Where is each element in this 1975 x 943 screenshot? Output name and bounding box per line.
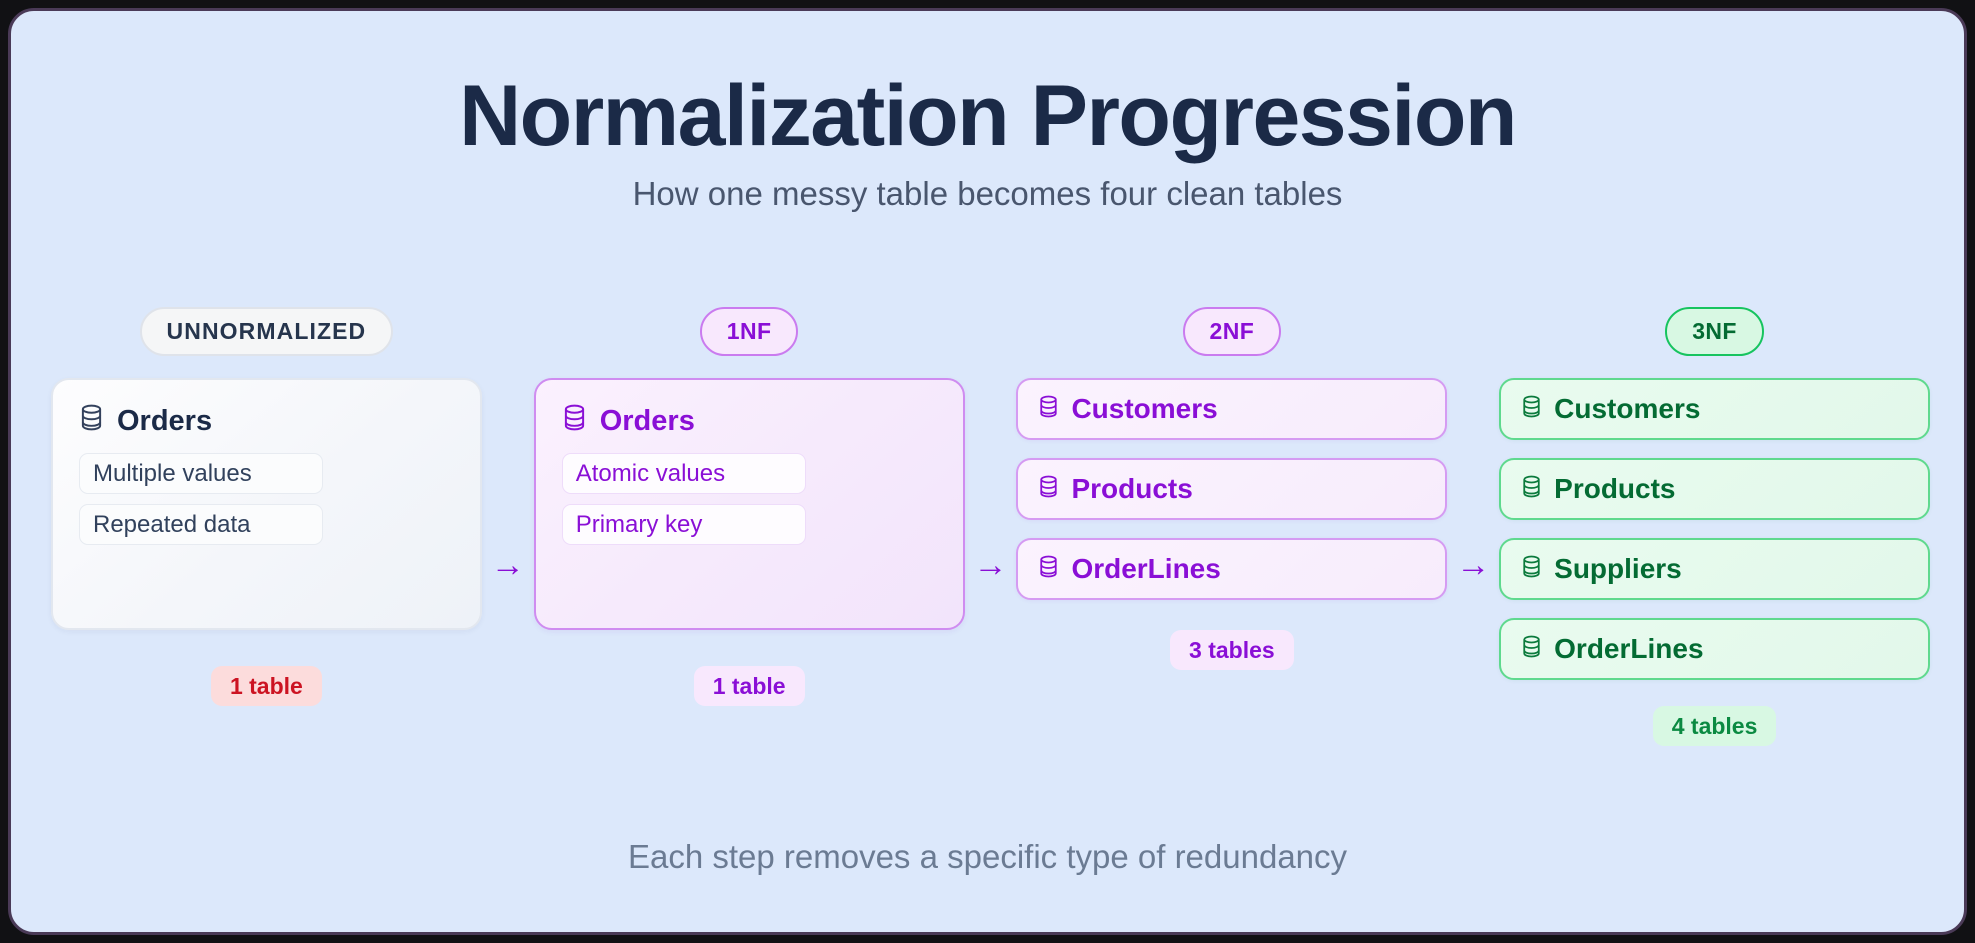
stage-3nf: 3NF Customers [1499,307,1930,746]
database-icon [1038,553,1059,585]
table-card-header: Orders [79,404,454,439]
table-name: OrderLines [1554,633,1703,665]
table-card-header: Products [1521,473,1675,505]
status-badge-table-count: 4 tables [1653,706,1777,746]
table-name: Orders [117,405,212,438]
table-card-header: OrderLines [1521,633,1703,665]
stage-1nf: 1NF Orders [534,307,965,706]
card-stack-1nf: Orders Atomic values Primary key [534,378,965,630]
table-card-products[interactable]: Products [1499,458,1930,520]
arrow-cell-1: → [965,307,1017,837]
arrow-cell-0: → [482,307,534,837]
table-card-header: Customers [1521,393,1700,425]
table-name: Products [1554,473,1675,505]
table-name: Products [1071,473,1192,505]
field-chip[interactable]: Atomic values [562,453,806,494]
status-badge-table-count: 1 table [694,666,805,706]
table-name: Customers [1554,393,1700,425]
card-stack-3nf: Customers Products [1499,378,1930,680]
database-icon [1521,633,1542,665]
table-card-header: Orders [562,404,937,439]
page-title: Normalization Progression [11,71,1964,161]
arrow-right-icon: → [973,548,1007,582]
table-card-header: Products [1038,473,1192,505]
arrow-right-icon: → [491,548,525,582]
database-icon [1521,553,1542,585]
table-card-header: Suppliers [1521,553,1682,585]
field-chip[interactable]: Multiple values [79,453,323,494]
database-icon [1038,393,1059,425]
arrow-right-icon: → [1456,548,1490,582]
table-card-orders[interactable]: Orders Multiple values Repeated data [51,378,482,630]
stage-badge-3nf[interactable]: 3NF [1665,307,1764,356]
count-badge-wrap: 1 table [694,666,805,706]
field-list: Atomic values Primary key [562,453,806,545]
table-card-products[interactable]: Products [1016,458,1447,520]
database-icon [79,404,104,439]
footer-note: Each step removes a specific type of red… [11,838,1964,876]
stage-2nf: 2NF Customers [1016,307,1447,670]
table-name: OrderLines [1071,553,1220,585]
page-subtitle: How one messy table becomes four clean t… [11,175,1964,213]
field-chip[interactable]: Primary key [562,504,806,545]
database-icon [1038,473,1059,505]
stage-badge-1nf[interactable]: 1NF [700,307,799,356]
table-card-header: OrderLines [1038,553,1220,585]
count-badge-wrap: 3 tables [1170,630,1294,670]
status-badge-table-count: 3 tables [1170,630,1294,670]
count-badge-wrap: 4 tables [1653,706,1777,746]
stage-badge-unnormalized[interactable]: UNNORMALIZED [140,307,394,356]
card-stack-2nf: Customers Products [1016,378,1447,600]
card-stack-unnormalized: Orders Multiple values Repeated data [51,378,482,630]
field-chip[interactable]: Repeated data [79,504,323,545]
table-card-orderlines[interactable]: OrderLines [1499,618,1930,680]
header: Normalization Progression How one messy … [11,71,1964,213]
field-list: Multiple values Repeated data [79,453,323,545]
arrow-cell-2: → [1447,307,1499,837]
database-icon [1521,393,1542,425]
table-card-customers[interactable]: Customers [1016,378,1447,440]
table-card-orderlines[interactable]: OrderLines [1016,538,1447,600]
diagram-frame: Normalization Progression How one messy … [8,8,1967,935]
stage-badge-2nf[interactable]: 2NF [1183,307,1282,356]
count-badge-wrap: 1 table [211,666,322,706]
table-card-header: Customers [1038,393,1217,425]
table-name: Suppliers [1554,553,1682,585]
database-icon [562,404,587,439]
table-name: Orders [600,405,695,438]
table-card-customers[interactable]: Customers [1499,378,1930,440]
table-name: Customers [1071,393,1217,425]
stage-row: UNNORMALIZED Orders [51,307,1930,837]
table-card-suppliers[interactable]: Suppliers [1499,538,1930,600]
stage-unnormalized: UNNORMALIZED Orders [51,307,482,706]
table-card-orders[interactable]: Orders Atomic values Primary key [534,378,965,630]
database-icon [1521,473,1542,505]
status-badge-table-count: 1 table [211,666,322,706]
